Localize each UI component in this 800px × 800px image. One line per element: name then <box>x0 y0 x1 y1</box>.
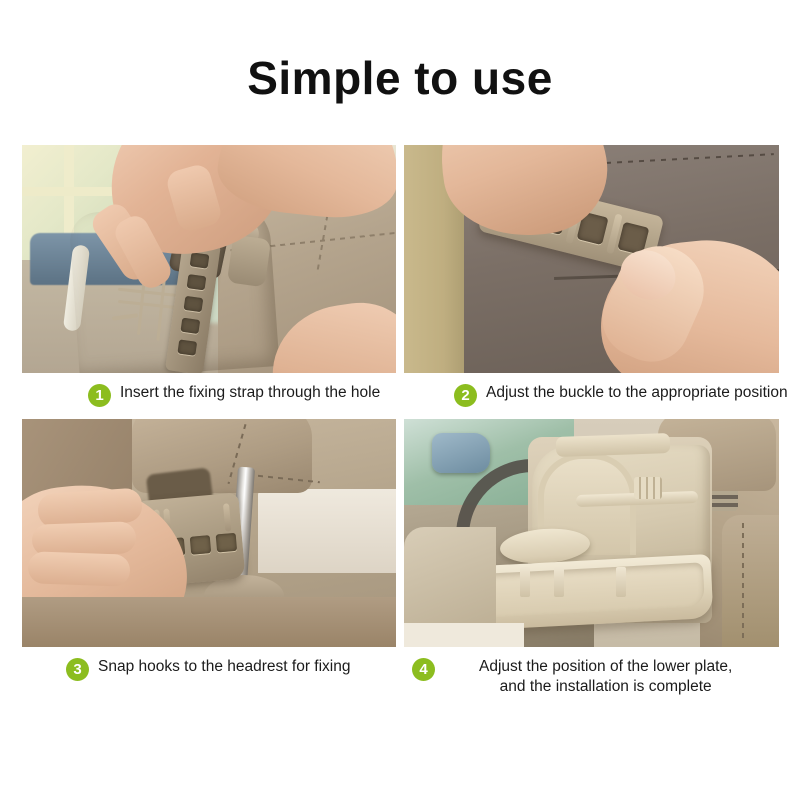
page-title: Simple to use <box>0 52 800 105</box>
step-badge-4: 4 <box>412 658 435 681</box>
step-4-caption-line-1: Adjust the position of the lower plate, <box>479 657 732 677</box>
step-2-caption-text: Adjust the buckle to the appropriate pos… <box>486 383 788 404</box>
step-badge-3: 3 <box>66 658 89 681</box>
step-3-photo <box>22 419 396 647</box>
step-1-caption: 1 Insert the fixing strap through the ho… <box>22 373 396 419</box>
step-3-caption-text: Snap hooks to the headrest for fixing <box>98 657 350 678</box>
step-badge-2: 2 <box>454 384 477 407</box>
photo-adjust-buckle-scene <box>404 145 779 373</box>
step-3: 3 Snap hooks to the headrest for fixing <box>22 419 396 693</box>
step-2-photo <box>404 145 779 373</box>
step-2: 2 Adjust the buckle to the appropriate p… <box>404 145 779 419</box>
step-4-photo <box>404 419 779 647</box>
step-1-caption-text: Insert the fixing strap through the hole <box>120 383 380 404</box>
step-badge-1: 1 <box>88 384 111 407</box>
steps-grid: 1 Insert the fixing strap through the ho… <box>22 145 779 693</box>
photo-snap-hooks-scene <box>22 419 396 647</box>
step-4: 4 Adjust the position of the lower plate… <box>404 419 779 693</box>
step-1-photo <box>22 145 396 373</box>
step-4-caption-line-2: and the installation is complete <box>479 677 732 697</box>
step-4-caption: 4 Adjust the position of the lower plate… <box>404 647 779 693</box>
step-4-caption-text: Adjust the position of the lower plate, … <box>479 657 732 697</box>
step-3-caption: 3 Snap hooks to the headrest for fixing <box>22 647 396 693</box>
step-1: 1 Insert the fixing strap through the ho… <box>22 145 396 419</box>
photo-insert-strap-scene <box>22 145 396 373</box>
product-instruction-infographic: Simple to use <box>0 0 800 800</box>
photo-installed-tray-scene <box>404 419 779 647</box>
step-2-caption: 2 Adjust the buckle to the appropriate p… <box>404 373 779 419</box>
